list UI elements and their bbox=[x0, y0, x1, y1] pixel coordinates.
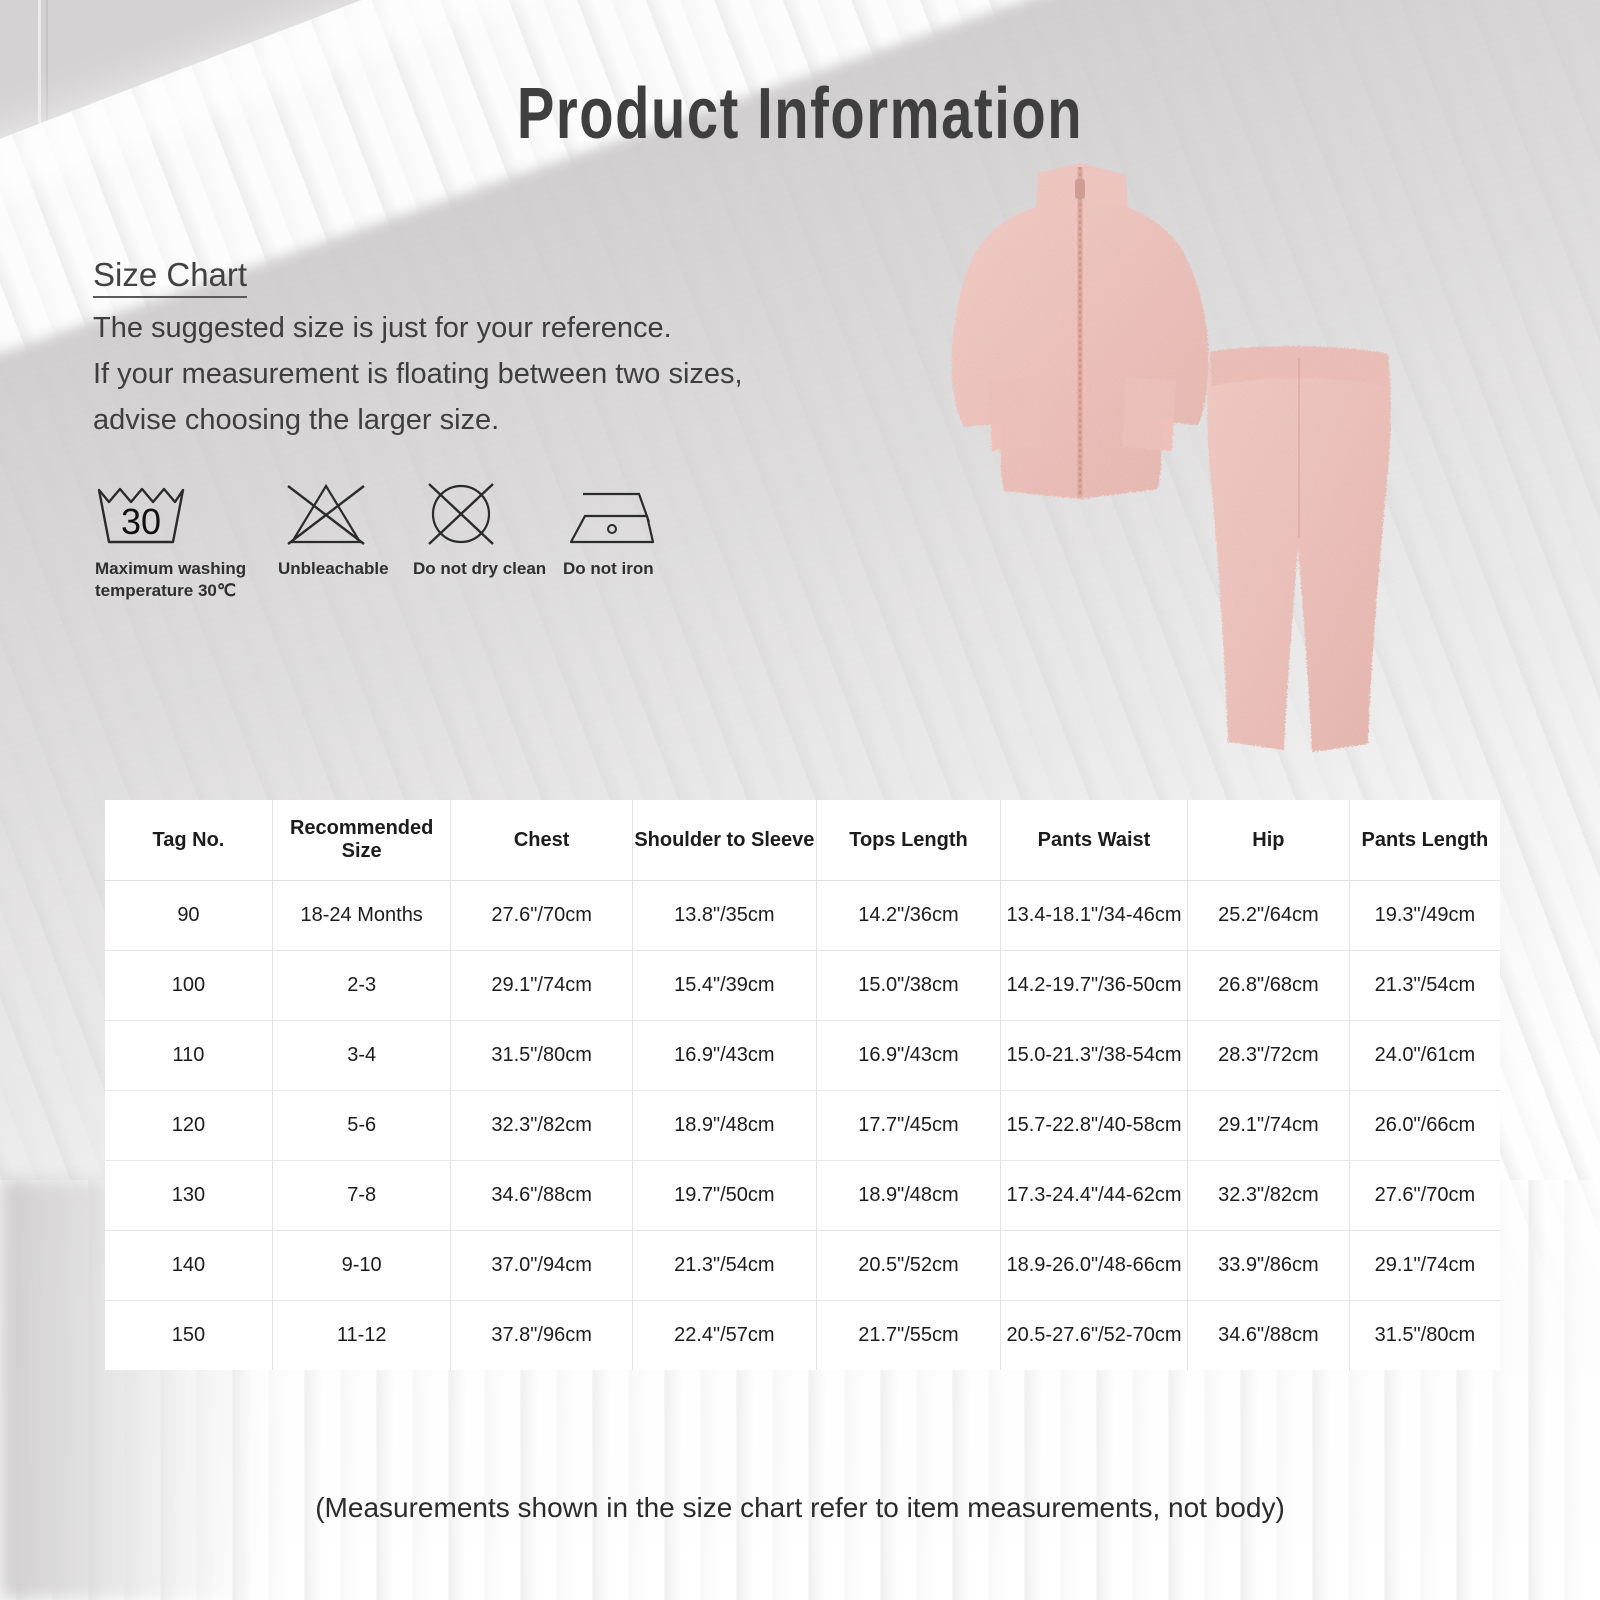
column-header-tag-no: Tag No. bbox=[105, 800, 272, 881]
cell-tops-length: 21.7"/55cm bbox=[816, 1301, 1000, 1371]
cell-shoulder-to-sleeve: 15.4"/39cm bbox=[632, 951, 816, 1021]
cell-chest: 32.3"/82cm bbox=[451, 1091, 632, 1161]
cell-tag-no: 110 bbox=[105, 1021, 272, 1091]
table-row: 140 9-10 37.0"/94cm 21.3"/54cm 20.5"/52c… bbox=[105, 1231, 1500, 1301]
cell-hip: 26.8"/68cm bbox=[1187, 951, 1349, 1021]
cell-chest: 34.6"/88cm bbox=[451, 1161, 632, 1231]
cell-recommended-size: 5-6 bbox=[272, 1091, 451, 1161]
cell-tag-no: 90 bbox=[105, 881, 272, 951]
cell-recommended-size: 9-10 bbox=[272, 1231, 451, 1301]
cell-tag-no: 150 bbox=[105, 1301, 272, 1371]
cell-chest: 37.8"/96cm bbox=[451, 1301, 632, 1371]
cell-tops-length: 15.0"/38cm bbox=[816, 951, 1000, 1021]
cell-pants-waist: 17.3-24.4"/44-62cm bbox=[1001, 1161, 1188, 1231]
do-not-bleach-icon bbox=[278, 478, 408, 550]
cell-tops-length: 17.7"/45cm bbox=[816, 1091, 1000, 1161]
care-symbol-iron-label: Do not iron bbox=[563, 558, 683, 580]
cell-tops-length: 14.2"/36cm bbox=[816, 881, 1000, 951]
cell-recommended-size: 18-24 Months bbox=[272, 881, 451, 951]
product-information-page: Product Information Size Chart The sugge… bbox=[0, 0, 1600, 1600]
cell-recommended-size: 2-3 bbox=[272, 951, 451, 1021]
cell-hip: 34.6"/88cm bbox=[1187, 1301, 1349, 1371]
cell-tag-no: 130 bbox=[105, 1161, 272, 1231]
care-symbol-iron: Do not iron bbox=[563, 478, 683, 580]
cell-chest: 37.0"/94cm bbox=[451, 1231, 632, 1301]
column-header-shoulder-to-sleeve: Shoulder to Sleeve bbox=[632, 800, 816, 881]
cell-recommended-size: 3-4 bbox=[272, 1021, 451, 1091]
column-header-tops-length: Tops Length bbox=[816, 800, 1000, 881]
column-header-hip: Hip bbox=[1187, 800, 1349, 881]
cell-pants-waist: 18.9-26.0"/48-66cm bbox=[1001, 1231, 1188, 1301]
measurement-footnote: (Measurements shown in the size chart re… bbox=[0, 1492, 1600, 1524]
cell-hip: 25.2"/64cm bbox=[1187, 881, 1349, 951]
size-chart-table-container: Tag No. Recommended Size Chest Shoulder … bbox=[105, 800, 1500, 1370]
column-header-recommended-size: Recommended Size bbox=[272, 800, 451, 881]
cell-shoulder-to-sleeve: 18.9"/48cm bbox=[632, 1091, 816, 1161]
care-symbol-bleach: Unbleachable bbox=[278, 478, 408, 580]
do-not-iron-icon bbox=[563, 478, 683, 550]
cell-hip: 32.3"/82cm bbox=[1187, 1161, 1349, 1231]
product-jacket-image bbox=[930, 155, 1230, 515]
size-chart-intro: The suggested size is just for your refe… bbox=[93, 305, 743, 443]
cell-shoulder-to-sleeve: 19.7"/50cm bbox=[632, 1161, 816, 1231]
cell-recommended-size: 11-12 bbox=[272, 1301, 451, 1371]
cell-tops-length: 16.9"/43cm bbox=[816, 1021, 1000, 1091]
column-header-pants-waist: Pants Waist bbox=[1001, 800, 1188, 881]
cell-shoulder-to-sleeve: 16.9"/43cm bbox=[632, 1021, 816, 1091]
size-chart-heading: Size Chart bbox=[93, 258, 247, 298]
cell-shoulder-to-sleeve: 13.8"/35cm bbox=[632, 881, 816, 951]
cell-chest: 27.6"/70cm bbox=[451, 881, 632, 951]
table-row: 130 7-8 34.6"/88cm 19.7"/50cm 18.9"/48cm… bbox=[105, 1161, 1500, 1231]
wash-tub-30-icon: 30 bbox=[93, 478, 273, 550]
care-symbol-dry-clean: Do not dry clean bbox=[413, 478, 558, 580]
cell-shoulder-to-sleeve: 21.3"/54cm bbox=[632, 1231, 816, 1301]
product-pants-image bbox=[1192, 342, 1414, 782]
cell-tops-length: 20.5"/52cm bbox=[816, 1231, 1000, 1301]
cell-tops-length: 18.9"/48cm bbox=[816, 1161, 1000, 1231]
do-not-dry-clean-icon bbox=[413, 478, 558, 550]
cell-pants-length: 24.0"/61cm bbox=[1349, 1021, 1500, 1091]
care-symbol-wash-label: Maximum washing temperature 30℃ bbox=[95, 558, 273, 602]
cell-pants-waist: 14.2-19.7"/36-50cm bbox=[1001, 951, 1188, 1021]
cell-pants-length: 26.0"/66cm bbox=[1349, 1091, 1500, 1161]
column-header-chest: Chest bbox=[451, 800, 632, 881]
care-symbol-wash: 30 Maximum washing temperature 30℃ bbox=[93, 478, 273, 602]
table-row: 150 11-12 37.8"/96cm 22.4"/57cm 21.7"/55… bbox=[105, 1301, 1500, 1371]
cell-recommended-size: 7-8 bbox=[272, 1161, 451, 1231]
cell-pants-length: 29.1"/74cm bbox=[1349, 1231, 1500, 1301]
size-chart-table: Tag No. Recommended Size Chest Shoulder … bbox=[105, 800, 1500, 1370]
cell-pants-waist: 15.7-22.8"/40-58cm bbox=[1001, 1091, 1188, 1161]
cell-tag-no: 140 bbox=[105, 1231, 272, 1301]
table-row: 90 18-24 Months 27.6"/70cm 13.8"/35cm 14… bbox=[105, 881, 1500, 951]
cell-hip: 29.1"/74cm bbox=[1187, 1091, 1349, 1161]
cell-pants-length: 19.3"/49cm bbox=[1349, 881, 1500, 951]
care-symbols-row: 30 Maximum washing temperature 30℃ Unble… bbox=[93, 478, 733, 618]
table-row: 100 2-3 29.1"/74cm 15.4"/39cm 15.0"/38cm… bbox=[105, 951, 1500, 1021]
svg-text:30: 30 bbox=[121, 501, 161, 542]
table-row: 120 5-6 32.3"/82cm 18.9"/48cm 17.7"/45cm… bbox=[105, 1091, 1500, 1161]
cell-pants-waist: 15.0-21.3"/38-54cm bbox=[1001, 1021, 1188, 1091]
cell-tag-no: 120 bbox=[105, 1091, 272, 1161]
cell-tag-no: 100 bbox=[105, 951, 272, 1021]
cell-chest: 29.1"/74cm bbox=[451, 951, 632, 1021]
table-row: 110 3-4 31.5"/80cm 16.9"/43cm 16.9"/43cm… bbox=[105, 1021, 1500, 1091]
cell-pants-waist: 20.5-27.6"/52-70cm bbox=[1001, 1301, 1188, 1371]
cell-pants-length: 27.6"/70cm bbox=[1349, 1161, 1500, 1231]
care-symbol-dry-clean-label: Do not dry clean bbox=[413, 558, 558, 580]
table-header-row: Tag No. Recommended Size Chest Shoulder … bbox=[105, 800, 1500, 881]
column-header-pants-length: Pants Length bbox=[1349, 800, 1500, 881]
cell-pants-waist: 13.4-18.1"/34-46cm bbox=[1001, 881, 1188, 951]
page-title: Product Information bbox=[176, 73, 1424, 155]
care-symbol-bleach-label: Unbleachable bbox=[278, 558, 408, 580]
cell-pants-length: 31.5"/80cm bbox=[1349, 1301, 1500, 1371]
cell-hip: 28.3"/72cm bbox=[1187, 1021, 1349, 1091]
cell-shoulder-to-sleeve: 22.4"/57cm bbox=[632, 1301, 816, 1371]
cell-chest: 31.5"/80cm bbox=[451, 1021, 632, 1091]
cell-hip: 33.9"/86cm bbox=[1187, 1231, 1349, 1301]
cell-pants-length: 21.3"/54cm bbox=[1349, 951, 1500, 1021]
